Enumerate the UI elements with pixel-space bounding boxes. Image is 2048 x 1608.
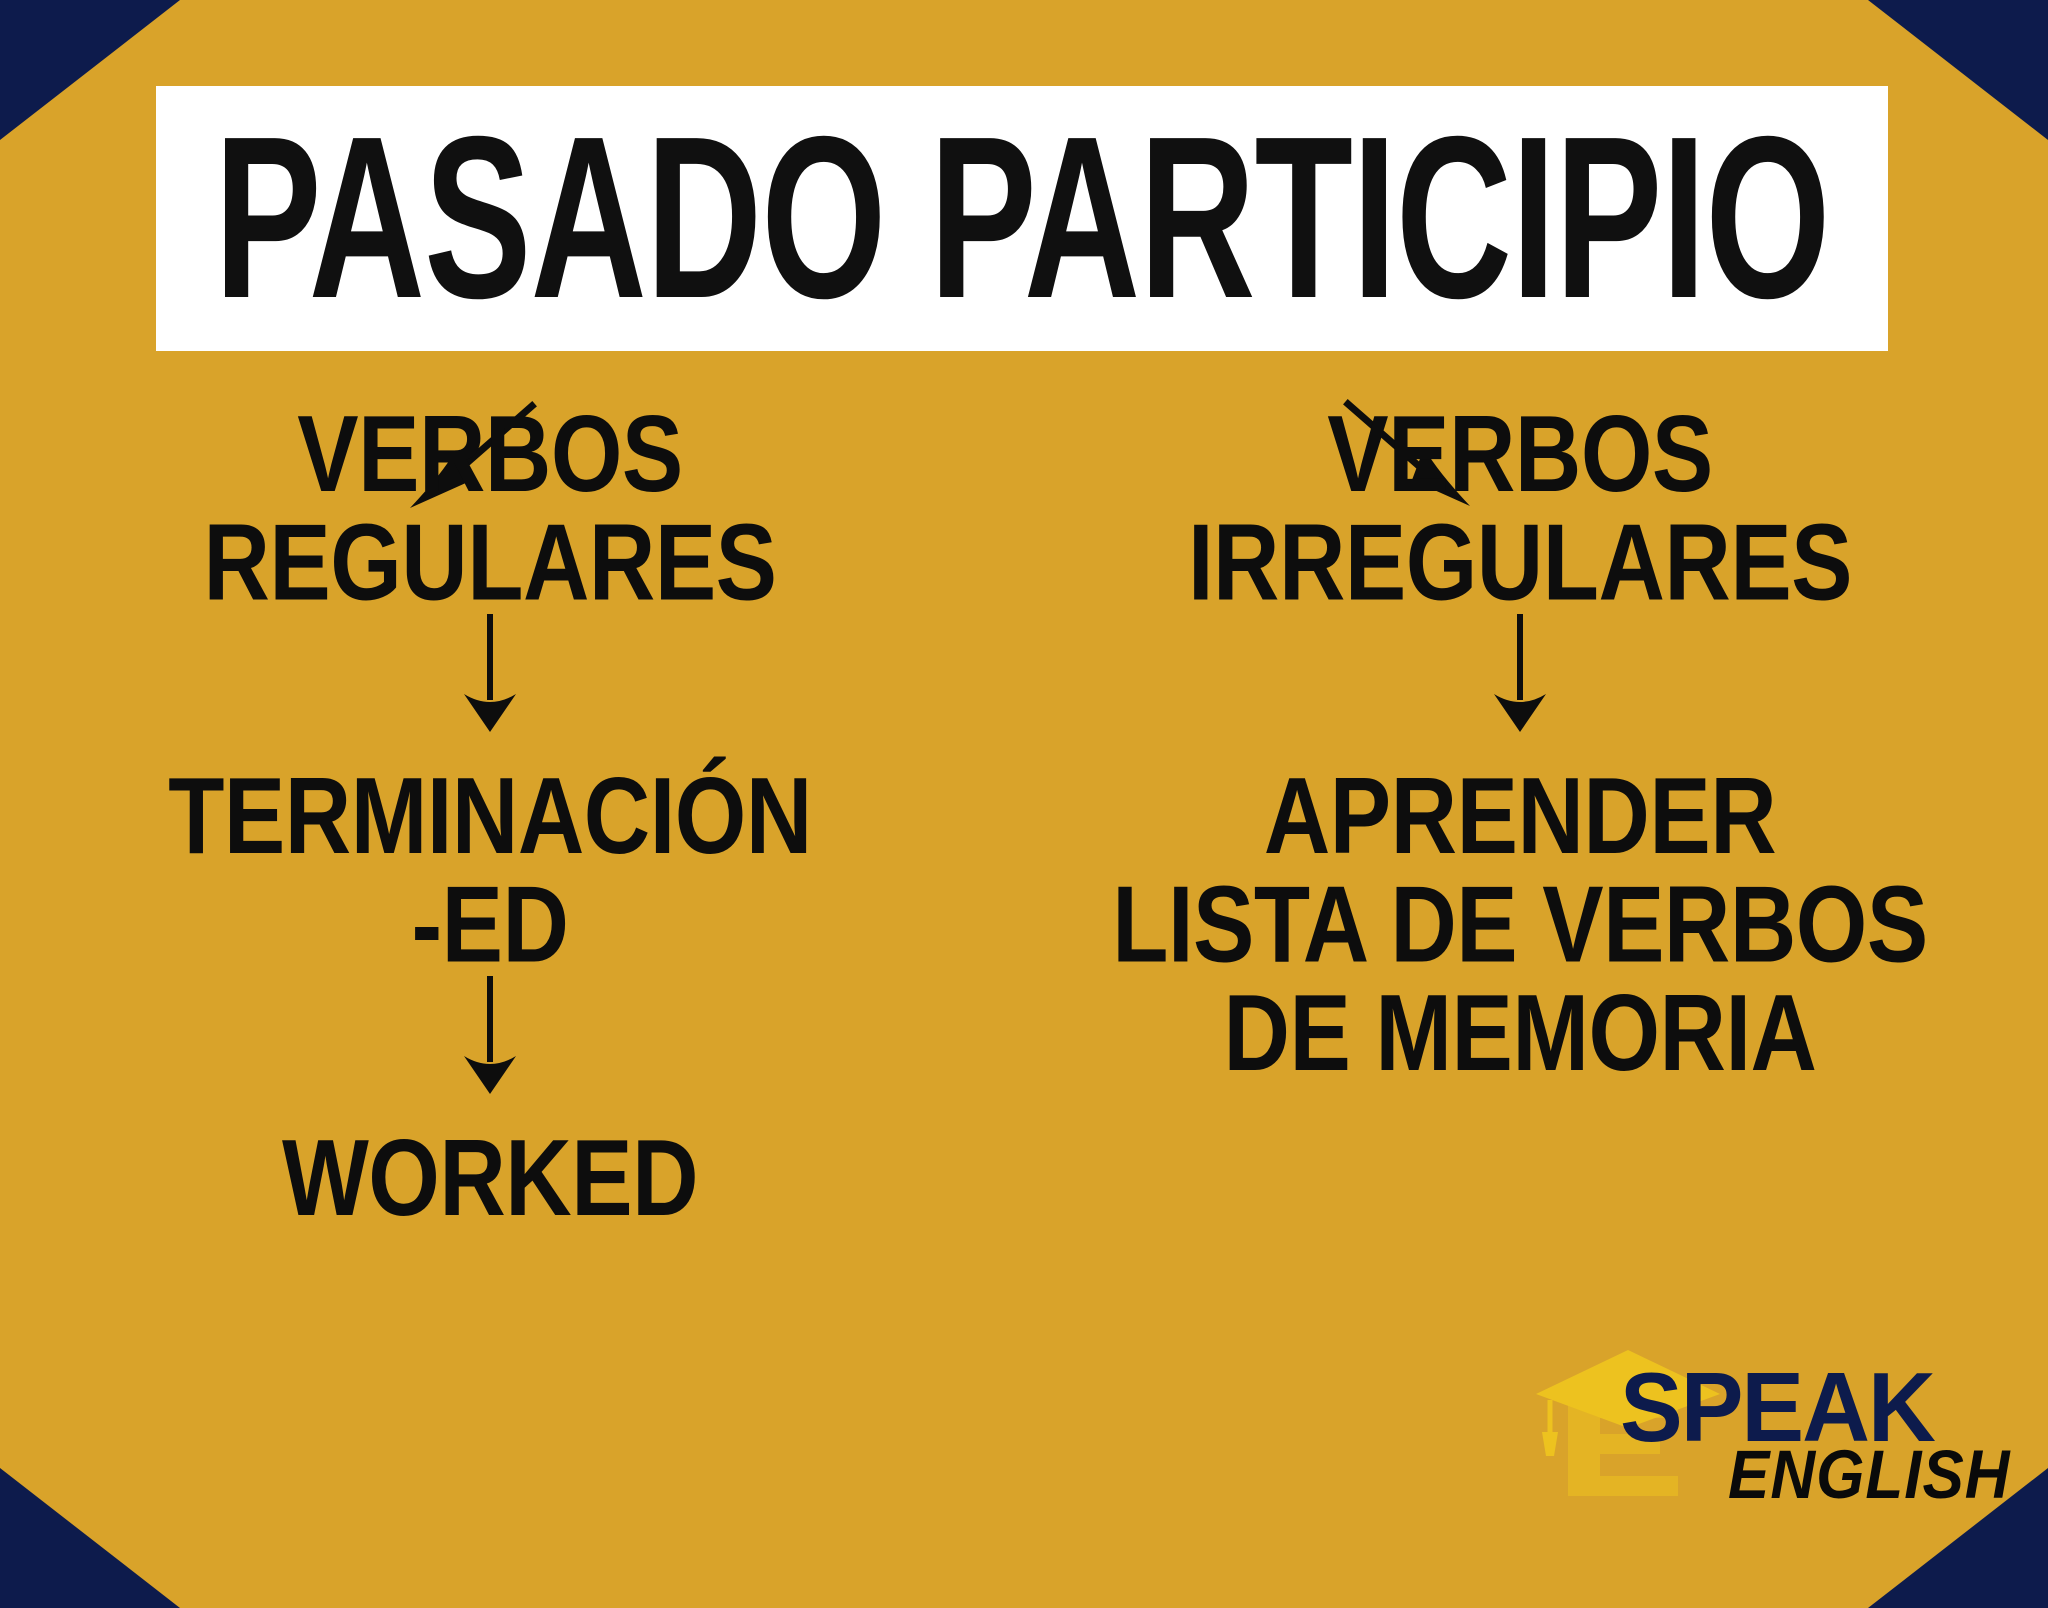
step-label-worked: WORKED — [60, 1124, 920, 1233]
poster-root: PASADO PARTICIPIO VERBOS REGULARES TERMI… — [0, 0, 2048, 1608]
title-banner: PASADO PARTICIPIO — [156, 86, 1888, 351]
logo-subtitle-text: ENGLISH — [1728, 1442, 2011, 1510]
step-label-verbos-regulares: VERBOS REGULARES — [60, 400, 920, 617]
page-title: PASADO PARTICIPIO — [214, 103, 1829, 334]
step-label-verbos-irregulares: VERBOS IRREGULARES — [1090, 400, 1950, 617]
brand-logo: SPEAK ENGLISH — [1528, 1336, 1998, 1516]
arrow-down-icon — [460, 976, 520, 1094]
step-label-terminacion-ed: TERMINACIÓN -ED — [60, 762, 920, 979]
column-regular-verbs: VERBOS REGULARES TERMINACIÓN -ED WORKED — [60, 400, 920, 1216]
arrow-down-icon — [460, 614, 520, 732]
step-label-aprender-lista: APRENDER LISTA DE VERBOS DE MEMORIA — [1090, 762, 1950, 1088]
column-irregular-verbs: VERBOS IRREGULARES APRENDER LISTA DE VER… — [1090, 400, 1950, 1038]
arrow-down-icon — [1490, 614, 1550, 732]
